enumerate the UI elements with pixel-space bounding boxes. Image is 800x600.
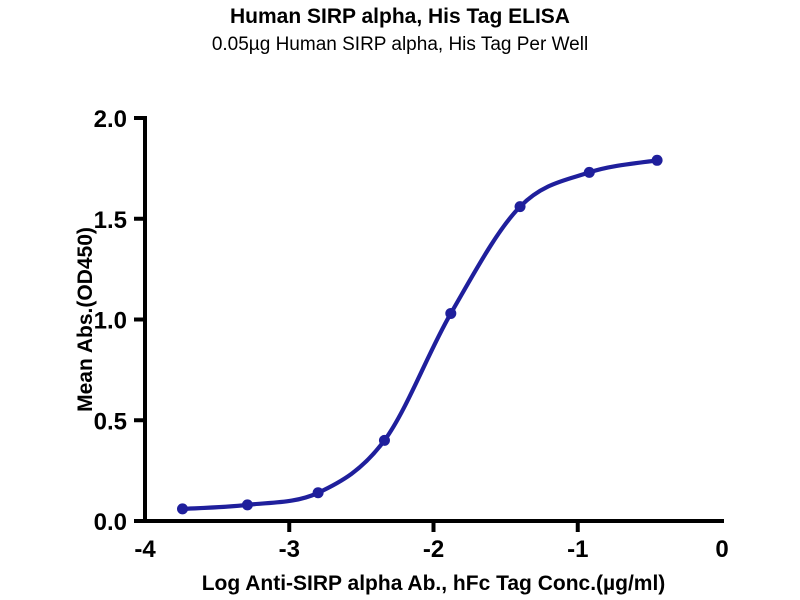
x-tick-label: -4 [134,536,156,563]
x-axis-title: Log Anti-SIRP alpha Ab., hFc Tag Conc.(µ… [202,572,666,595]
elisa-chart-figure: Human SIRP alpha, His Tag ELISA 0.05µg H… [0,0,800,600]
x-tick-label: -1 [567,536,588,563]
x-tick-label: -3 [279,536,300,563]
series-data-markers [177,155,663,515]
series-curve-line [183,160,658,509]
data-point-marker [445,308,456,319]
x-tick-label-group: -4-3-2-10 [134,536,728,563]
data-point-marker [177,503,188,514]
plot-canvas: 0.00.51.01.52.0 -4-3-2-10 Mean Abs.(OD45… [0,0,800,600]
data-point-marker [515,201,526,212]
y-tick-label: 1.0 [94,308,127,335]
y-tick-label: 0.5 [94,408,127,435]
y-axis-title: Mean Abs.(OD450) [74,227,97,412]
data-point-marker [584,167,595,178]
y-tick-label: 0.0 [94,509,127,536]
data-point-marker [313,487,324,498]
y-tick-label: 2.0 [94,106,127,133]
y-tick-label: 1.5 [94,207,127,234]
data-point-marker [652,155,663,166]
x-tick-label: 0 [715,536,728,563]
y-tick-label-group: 0.00.51.01.52.0 [94,106,127,536]
data-point-marker [379,435,390,446]
x-tick-label: -2 [423,536,444,563]
data-point-marker [242,499,253,510]
